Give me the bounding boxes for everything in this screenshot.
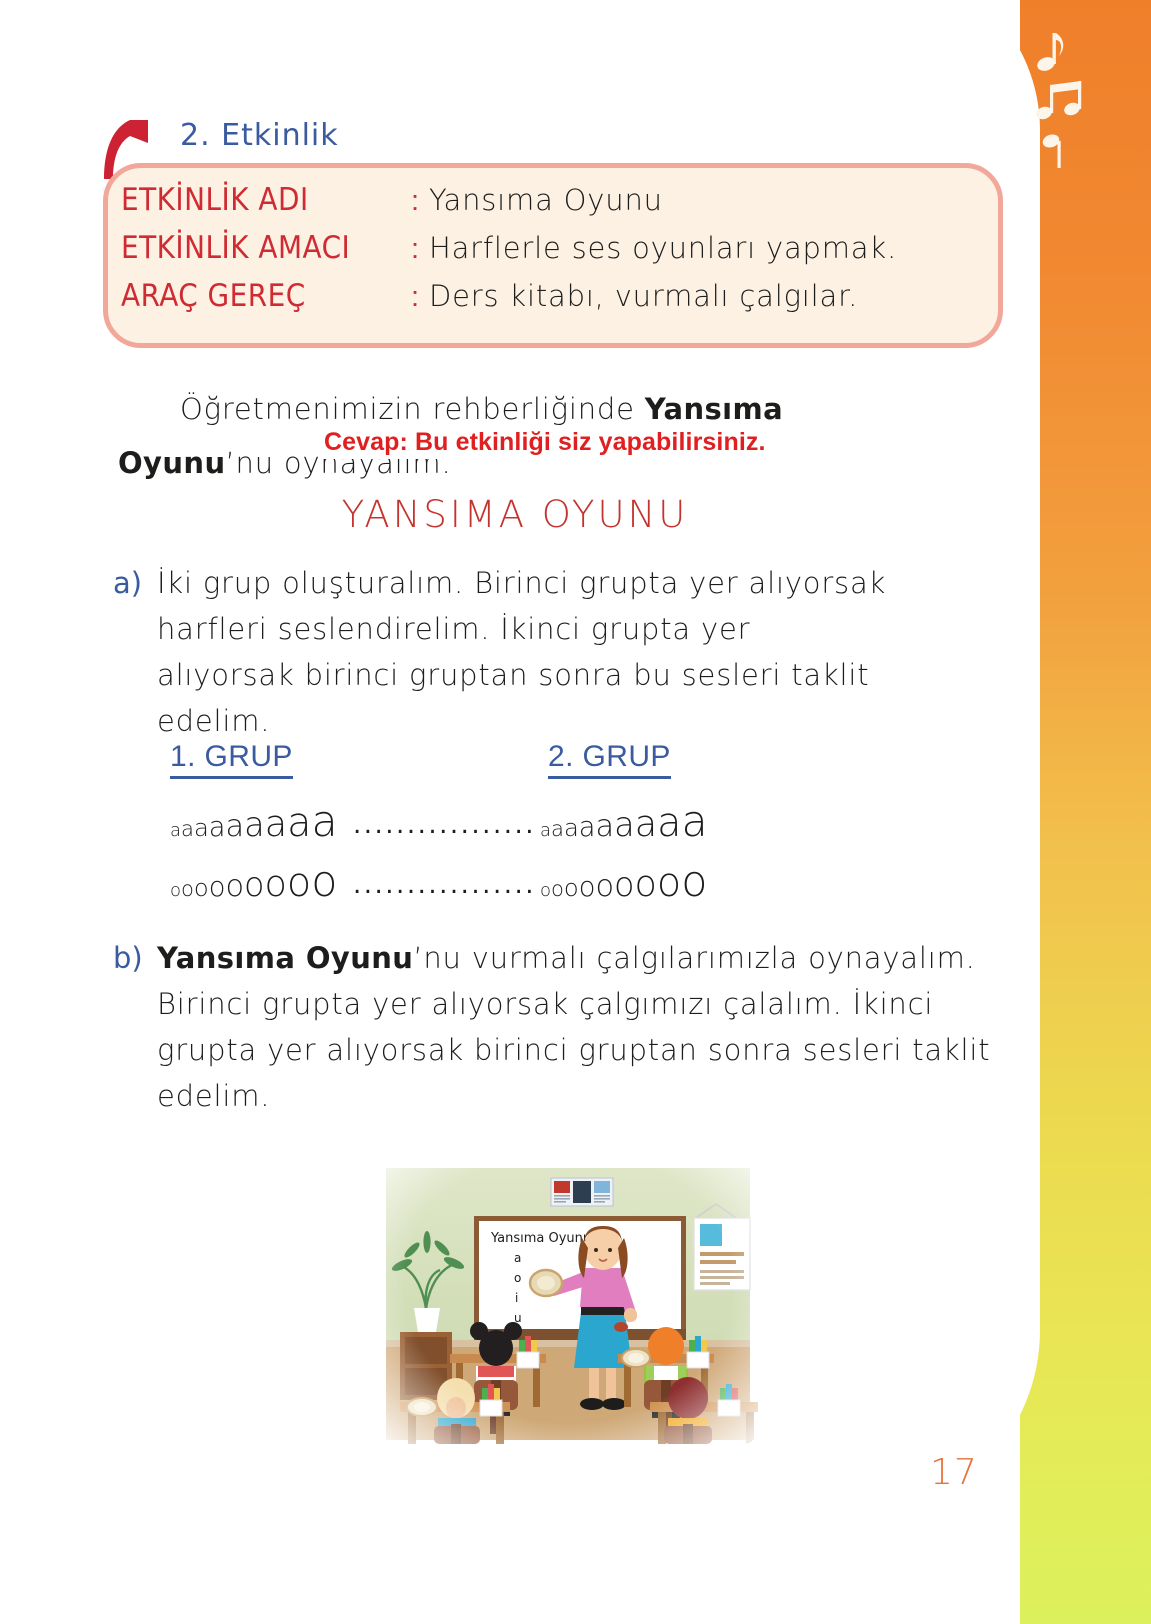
letter-glyph: a (681, 801, 707, 844)
page-title: 2. Etkinlik (180, 118, 339, 153)
letter-glyph: o (244, 868, 265, 902)
letter-glyph: o (579, 874, 596, 901)
info-row: ETKİNLİK AMACI : Harflerle ses oyunları … (121, 230, 1001, 278)
letter-glyph: a (265, 806, 287, 843)
item-marker-b: b) (113, 935, 157, 981)
letter-glyph: a (657, 804, 681, 844)
letter-glyph: o (614, 868, 635, 902)
letter-glyph: o (287, 864, 311, 904)
letter-glyph: o (635, 866, 657, 903)
classroom-illustration: Yansıma Oyunu a o i u (378, 1126, 758, 1444)
letter-glyph: a (209, 814, 226, 841)
activity-info-box: ETKİNLİK ADI : Yansıma Oyunu ETKİNLİK AM… (103, 163, 1003, 348)
group-header-2: 2. GRUP (548, 740, 671, 779)
letter-glyph: o (170, 882, 181, 900)
answer-note: Cevap: Bu etkinliği siz yapabilirsiniz. (320, 426, 770, 459)
intro-text-before: Öğretmenimizin rehberliğinde (180, 392, 645, 426)
letter-glyph: a (287, 804, 311, 844)
textbook-page: 2. Etkinlik ETKİNLİK ADI : Yansıma Oyunu… (0, 0, 1151, 1624)
page-number: 17 (930, 1452, 978, 1493)
dotted-line-o: .................... (353, 870, 531, 900)
letter-glyph: o (681, 861, 707, 904)
letter-sequence-o-group1: ooooooooo (170, 861, 337, 904)
list-item-b: b) Yansıma Oyunu’nu vurmalı çalgılarımız… (113, 935, 1023, 1119)
info-colon: : (411, 185, 429, 218)
letter-glyph: o (551, 878, 564, 899)
music-notes-decoration (1033, 28, 1093, 168)
single-note-icon (1041, 132, 1061, 168)
page-content: 2. Etkinlik ETKİNLİK ADI : Yansıma Oyunu… (0, 0, 1030, 1624)
item-marker-a: a) (113, 560, 157, 606)
letter-glyph: o (209, 874, 226, 901)
game-title-heading: YANSIMA OYUNU (0, 493, 1030, 536)
letter-glyph: a (226, 812, 245, 842)
item-text-b: Yansıma Oyunu’nu vurmalı çalgılarımızla … (157, 935, 1017, 1119)
group-header-1: 1. GRUP (170, 740, 293, 779)
eighth-note-icon (1035, 33, 1063, 73)
letter-glyph: o (564, 876, 579, 900)
letter-glyph: o (194, 876, 209, 900)
info-colon: : (411, 233, 429, 266)
letter-glyph: a (564, 816, 579, 840)
beamed-notes-icon (1034, 81, 1081, 121)
info-label-activity-goal: ETKİNLİK AMACI (121, 230, 411, 266)
letter-row-a: aaaaaaaaa .................... aaaaaaaaa (168, 796, 768, 844)
letter-glyph: o (595, 872, 614, 902)
group-headers-row: 1. GRUP 2. GRUP (168, 740, 768, 784)
letter-glyph: o (311, 861, 337, 904)
letter-glyph: o (225, 872, 244, 902)
list-item-a: a) İki grup oluşturalım. Birinci grupta … (113, 560, 913, 744)
letter-glyph: a (596, 812, 615, 842)
info-label-activity-name: ETKİNLİK ADI (121, 182, 411, 218)
letter-sequence-a-group2: aaaaaaaaa (540, 801, 708, 844)
letter-glyph: a (170, 822, 181, 840)
letter-glyph: o (181, 878, 194, 899)
info-value-activity-goal: Harflerle ses oyunları yapmak. (429, 231, 897, 265)
item-text-a: İki grup oluşturalım. Birinci grupta yer… (157, 560, 897, 744)
letter-glyph: a (244, 808, 265, 842)
dotted-line-a: .................... (353, 810, 531, 840)
group-letters-table: 1. GRUP 2. GRUP aaaaaaaaa ..............… (168, 740, 768, 904)
letter-glyph: a (181, 818, 194, 839)
letter-glyph: a (311, 801, 337, 844)
letter-sequence-o-group2: ooooooooo (540, 861, 707, 904)
letter-sequence-a-group1: aaaaaaaaa (170, 801, 338, 844)
letter-glyph: a (551, 818, 564, 839)
letter-glyph: a (614, 808, 635, 842)
letter-glyph: a (579, 814, 596, 841)
item-b-bold-title: Yansıma Oyunu (157, 941, 413, 975)
letter-glyph: a (194, 816, 209, 840)
letter-glyph: a (540, 822, 551, 840)
info-value-activity-name: Yansıma Oyunu (429, 183, 663, 217)
info-row: ARAÇ GEREÇ : Ders kitabı, vurmalı çalgıl… (121, 278, 1001, 326)
letter-glyph: o (265, 866, 287, 903)
info-colon: : (411, 281, 429, 314)
letter-glyph: a (635, 806, 657, 843)
info-row: ETKİNLİK ADI : Yansıma Oyunu (121, 182, 1001, 230)
info-label-materials: ARAÇ GEREÇ (121, 278, 411, 314)
letter-row-o: ooooooooo .................... ooooooooo (168, 856, 768, 904)
letter-glyph: o (657, 864, 681, 904)
info-value-materials: Ders kitabı, vurmalı çalgılar. (429, 279, 858, 313)
letter-glyph: o (540, 882, 551, 900)
